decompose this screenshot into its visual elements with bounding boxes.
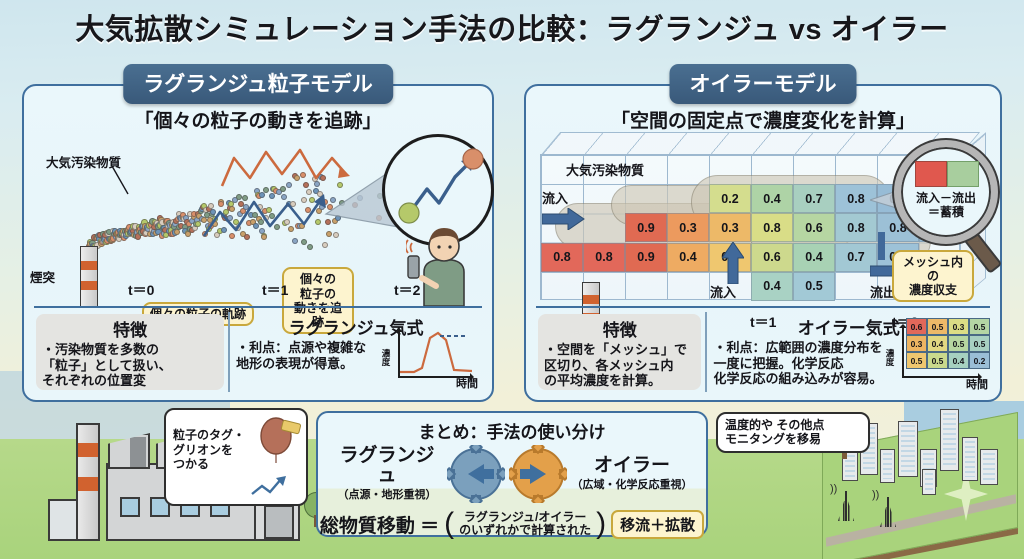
- mini-grid-xlabel: 時間: [966, 376, 988, 392]
- peak-curve: [400, 330, 472, 376]
- lagrangian-panel: ラグランジュ粒子モデル 「個々の粒子の動きを追跡」 大気汚染物質: [22, 84, 494, 402]
- balloon-icon: [256, 416, 302, 464]
- summary-right-sub: （広域・化学反応重視）: [571, 476, 693, 492]
- mini-chart-ylabel: 濃度: [380, 349, 392, 366]
- summary-comparison-row: ラグランジュ （点源・地形重視）: [318, 445, 706, 503]
- mesh-cell: 0.3: [667, 213, 709, 242]
- mesh-cell: 0.3: [709, 213, 751, 242]
- smokestack-label: 煙突: [30, 267, 55, 286]
- feature-heading: 特徴: [544, 316, 695, 341]
- lagrangian-subtitle: 「個々の粒子の動きを追跡」: [24, 106, 492, 133]
- summary-equation: 総物質移動 ＝ ( ラグランジュ/オイラー のいずれかで計算された ) 移流＋拡…: [318, 507, 706, 541]
- mesh-cell: 0.7: [793, 184, 835, 213]
- lagrangian-info-strip: 特徴 ・汚染物質を多数の 「粒子」として扱い、 それぞれの位置変 ラグランジュ気…: [34, 306, 482, 392]
- summary-left-name: ラグランジュ: [331, 446, 443, 486]
- eulerian-feature-box: 特徴 ・空間を「メッシュ」で 区切り、各メッシュ内 の平均濃度を計算。: [538, 314, 701, 390]
- antenna-tower-icon: [836, 487, 856, 521]
- mini-grid-cell: 0.5: [969, 335, 990, 352]
- gear-left-arrow-icon: [447, 445, 505, 503]
- time-label-t2: t＝2: [394, 280, 420, 300]
- mesh-cell: 0.8: [751, 213, 793, 242]
- paren-open: (: [444, 507, 454, 541]
- city-callout: 温度的や その他点 モニタングを移易: [716, 412, 870, 453]
- inflow-label: 流入: [542, 188, 568, 207]
- gear-right-arrow-icon: [509, 445, 567, 503]
- balloon-callout: 粒子のタグ・ グリオンを つかる: [164, 408, 308, 506]
- equation-tag: 移流＋拡散: [611, 510, 704, 539]
- formula-body: ・利点：点源や複雑な 地形の表現が得意。: [236, 340, 396, 371]
- mini-grid-cell: 0.6: [906, 318, 927, 335]
- mini-grid-cell: 0.5: [948, 335, 969, 352]
- mesh-cell: 0.8: [541, 243, 583, 272]
- random-walk-blue-path: [200, 186, 330, 242]
- mesh-cell: 0.9: [625, 243, 667, 272]
- lens-equation-text: 流入－流出 ＝蓄積: [901, 191, 991, 220]
- mesh-cell: 0.6: [793, 213, 835, 242]
- mesh-cell: 0.4: [793, 243, 835, 272]
- lagrangian-badge: ラグランジュ粒子モデル: [123, 64, 393, 104]
- inflow-up-arrow-icon: [722, 242, 744, 284]
- mini-grid-cell: 0.2: [969, 352, 990, 369]
- page-title: 大気拡散シミュレーション手法の比較：ラグランジュ vs オイラー: [0, 6, 1024, 48]
- lagrangian-feature-box: 特徴 ・汚染物質を多数の 「粒子」として扱い、 それぞれの位置変: [36, 314, 224, 390]
- eulerian-magnifier: 流入－流出 ＝蓄積: [894, 140, 998, 244]
- lagrangian-illustration: 大気汚染物質: [24, 134, 492, 302]
- mini-grid-cell: 0.3: [906, 335, 927, 352]
- eulerian-formula-box: オイラー気式 ・利点：広範囲の濃度分布を 一度に把握。化学反応 化学反応の組み込…: [705, 312, 990, 392]
- mini-grid-cell: 0.5: [927, 352, 948, 369]
- inflow-arrow-icon: [542, 208, 586, 230]
- balloon-arrow-icon: [250, 474, 290, 498]
- mesh-cell: 0.6: [751, 243, 793, 272]
- summary-heading: まとめ：手法の使い分け: [318, 418, 706, 443]
- mesh-cell: 0.4: [751, 184, 793, 213]
- summary-left-sub: （点源・地形重視）: [331, 486, 443, 502]
- mesh-cell: 0.5: [793, 272, 835, 301]
- equation-left: 総物質移動 ＝: [320, 511, 439, 538]
- mini-grid-cell: 0.4: [927, 335, 948, 352]
- mini-grid-cell: 0.5: [969, 318, 990, 335]
- mini-grid-cells: 0.60.50.30.50.30.40.50.50.50.50.40.2: [906, 318, 990, 369]
- mini-grid-cell: 0.5: [927, 318, 948, 335]
- lagrangian-formula-box: ラグランジュ気式 ・利点：点源や複雑な 地形の表現が得意。 濃度 時間: [228, 312, 482, 392]
- inflow2-label: 流入: [710, 282, 736, 301]
- mesh-cell: 0.2: [709, 184, 751, 213]
- mini-grid-cell: 0.3: [948, 318, 969, 335]
- lens-callout: メッシュ内の 濃度収支: [892, 250, 974, 302]
- mesh-cell: 0.4: [751, 272, 793, 301]
- eulerian-mini-chart: 濃度 0.60.50.30.50.30.40.50.50.50.50.40.2 …: [888, 316, 988, 386]
- mini-grid-cell: 0.4: [948, 352, 969, 369]
- feature-heading: 特徴: [42, 316, 218, 341]
- paren-close: ): [596, 507, 606, 541]
- outflow-stem-icon: [874, 232, 888, 262]
- mesh-cell: 0.8: [583, 243, 625, 272]
- summary-right-name: オイラー: [571, 456, 693, 476]
- eulerian-info-strip: 特徴 ・空間を「メッシュ」で 区切り、各メッシュ内 の平均濃度を計算。 オイラー…: [536, 306, 990, 392]
- mini-grid-cell: 0.5: [906, 352, 927, 369]
- feature-body: ・空間を「メッシュ」で 区切り、各メッシュ内 の平均濃度を計算。: [544, 342, 695, 389]
- mesh-cell: 0.4: [667, 243, 709, 272]
- summary-box: まとめ：手法の使い分け ラグランジュ （点源・地形重視）: [316, 411, 708, 537]
- eulerian-mesh: 0.20.40.70.80.90.90.30.30.80.60.80.80.80…: [540, 132, 992, 304]
- eulerian-badge: オイラーモデル: [670, 64, 857, 104]
- feature-body: ・汚染物質を多数の 「粒子」として扱い、 それぞれの位置変: [42, 342, 218, 389]
- mini-grid-ylabel: 濃度: [884, 349, 896, 366]
- mesh-pollutant-label: 大気汚染物質: [566, 160, 644, 179]
- left-smokestack: [80, 246, 98, 308]
- time-label-t1: t＝1: [262, 280, 288, 300]
- antenna-tower-icon: [878, 493, 898, 527]
- equation-paren-text: ラグランジュ/オイラー のいずれかで計算された: [459, 511, 591, 538]
- mesh-cell: 0.9: [625, 213, 667, 242]
- eulerian-subtitle: 「空間の固定点で濃度変化を計算」: [526, 106, 1000, 133]
- mini-chart-xlabel: 時間: [456, 375, 478, 391]
- infographic-root: )) )) 大気拡散シミュレーション手法の比較：ラグランジュ vs オイラー ラ…: [0, 0, 1024, 559]
- factory-smokestack: [76, 423, 100, 541]
- lagrangian-mini-chart: 濃度 時間: [382, 326, 478, 388]
- time-label-t0: t＝0: [128, 280, 154, 300]
- eulerian-panel: オイラーモデル 「空間の固定点で濃度変化を計算」 0.20.40.70.80.9…: [524, 84, 1002, 402]
